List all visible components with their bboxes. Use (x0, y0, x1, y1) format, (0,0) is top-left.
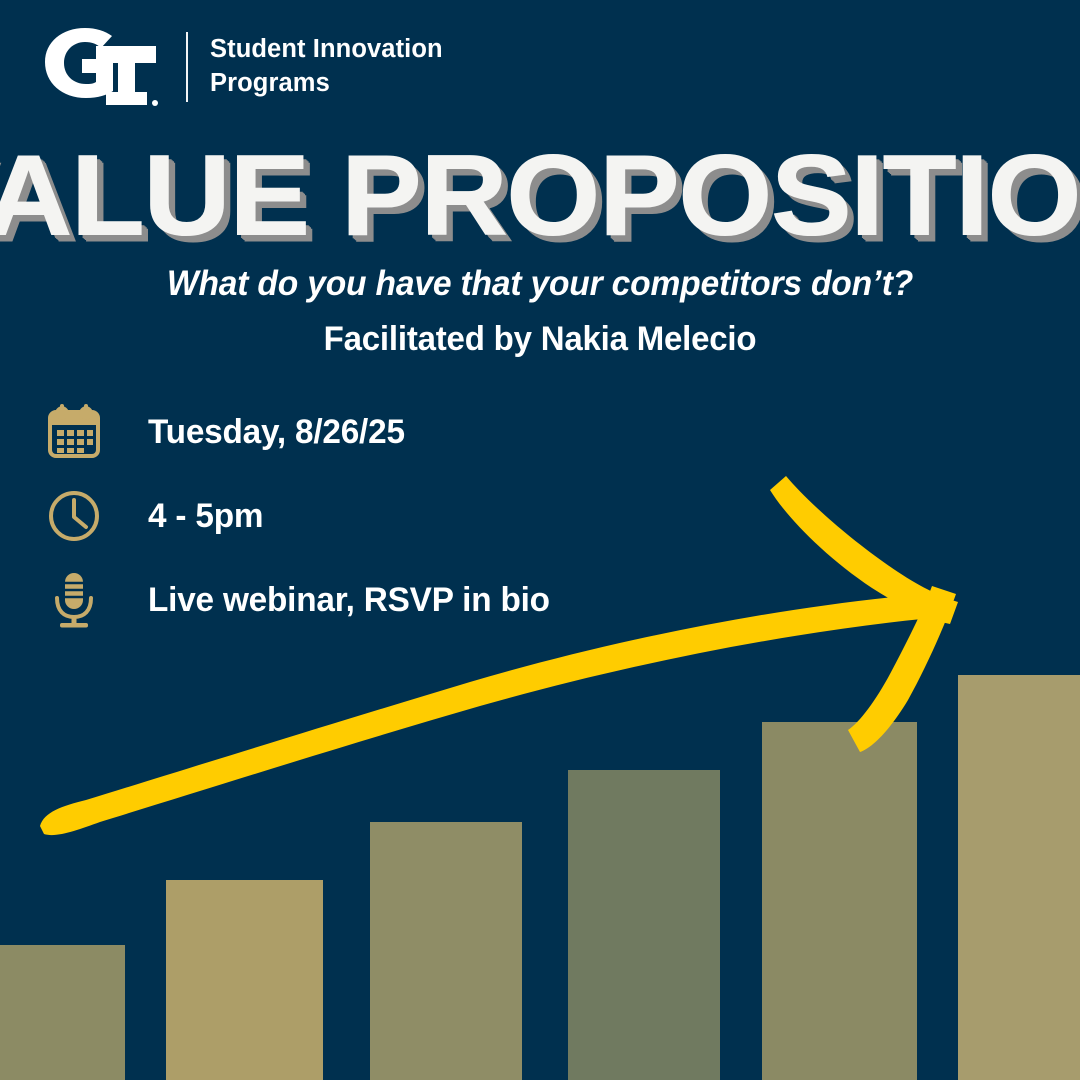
facilitator-line: Facilitated by Nakia Melecio (16, 320, 1064, 359)
organization-name: Student Innovation Programs (210, 33, 443, 101)
page-title-container: VALUE PROPOSITION (0, 139, 1080, 243)
calendar-icon (43, 401, 105, 463)
subtitle: What do you have that your competitors d… (22, 264, 1059, 304)
chart-bar (958, 675, 1080, 1080)
clock-icon (43, 485, 105, 547)
poster-canvas: Student Innovation Programs VALUE PROPOS… (0, 0, 1080, 1080)
chart-bar (0, 945, 125, 1080)
chart-bar (762, 722, 917, 1080)
logo-lockup: Student Innovation Programs (38, 26, 443, 108)
detail-row-time: 4 - 5pm (43, 482, 558, 550)
chart-bar (370, 822, 522, 1080)
event-details: Tuesday, 8/26/25 4 - 5pm (43, 398, 558, 650)
chart-bar (166, 880, 323, 1080)
microphone-icon (43, 569, 105, 631)
detail-label-time: 4 - 5pm (148, 497, 263, 536)
detail-row-date: Tuesday, 8/26/25 (43, 398, 558, 466)
detail-label-date: Tuesday, 8/26/25 (148, 413, 405, 452)
georgia-tech-gt-monogram-icon (38, 26, 162, 108)
page-title: VALUE PROPOSITION (0, 139, 1080, 253)
chart-bar (568, 770, 720, 1080)
logo-divider (186, 32, 188, 102)
detail-row-format: Live webinar, RSVP in bio (43, 566, 558, 634)
detail-label-format: Live webinar, RSVP in bio (148, 581, 550, 620)
